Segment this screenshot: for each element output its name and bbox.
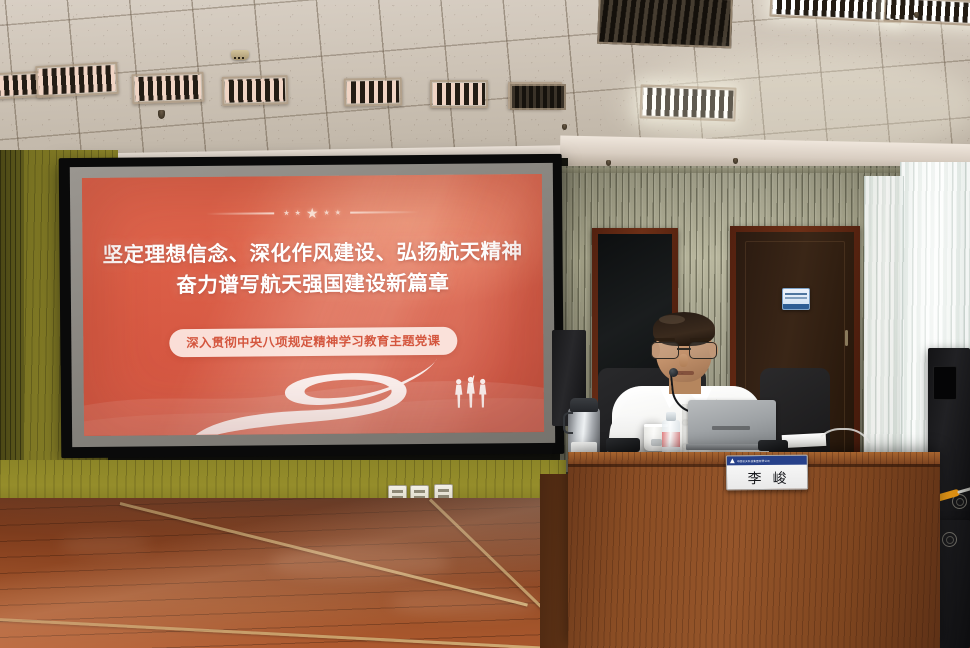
nameplate-header: 中国航天科技集团有限公司 [727,456,807,466]
ceiling-light-fixture [35,62,119,98]
org-logo-icon [730,458,735,463]
presenter-eyebrow [654,338,675,341]
floor-highlight [270,546,450,580]
ceiling-light-fixture [222,75,289,106]
hvac-diffuser [597,0,733,48]
desk-object [758,440,788,451]
speaker-port [933,366,957,400]
presenter-nose [679,354,688,367]
thermos-flask [568,398,600,458]
ceiling-light-fixture [430,80,488,108]
laptop-brand-mark [712,426,750,430]
slide-vignette [82,174,544,436]
sprinkler-head-icon [158,110,165,119]
door-handle-icon[interactable] [845,330,848,346]
hvac-diffuser [510,84,566,110]
sprinkler-head-icon [733,158,738,164]
nameplate-givenname: 峻 [772,467,786,487]
floor [0,498,592,648]
nameplate-name: 李 峻 [727,466,807,490]
floor-highlight [60,534,150,556]
nameplate-org: 中国航天科技集团有限公司 [737,458,770,462]
sprinkler-head-icon [914,12,919,18]
desk-object [606,438,640,452]
wall-band [560,168,912,173]
smoke-detector-icon [231,50,249,60]
exit-sign [782,288,810,310]
nameplate-surname: 李 [747,468,761,488]
speaker-brand-logo [942,532,957,547]
presentation-slide: ★ ★ ★ ★ ★ 坚定理想信念、深化作风建设、弘扬航天精神 奋力谱写航天强国建… [82,174,544,436]
presenter-eyebrow [690,338,711,341]
ceiling-light-fixture [131,72,204,104]
ceiling-light-fixture [344,77,402,106]
sprinkler-head-icon [562,124,567,130]
nameplate: 中国航天科技集团有限公司 李 峻 [726,455,808,491]
conference-room-scene: ★ ★ ★ ★ ★ 坚定理想信念、深化作风建设、弘扬航天精神 奋力谱写航天强国建… [0,0,970,648]
projection-screen: ★ ★ ★ ★ ★ 坚定理想信念、深化作风建设、弘扬航天精神 奋力谱写航天强国建… [59,154,565,458]
floor-highlight [390,590,540,616]
